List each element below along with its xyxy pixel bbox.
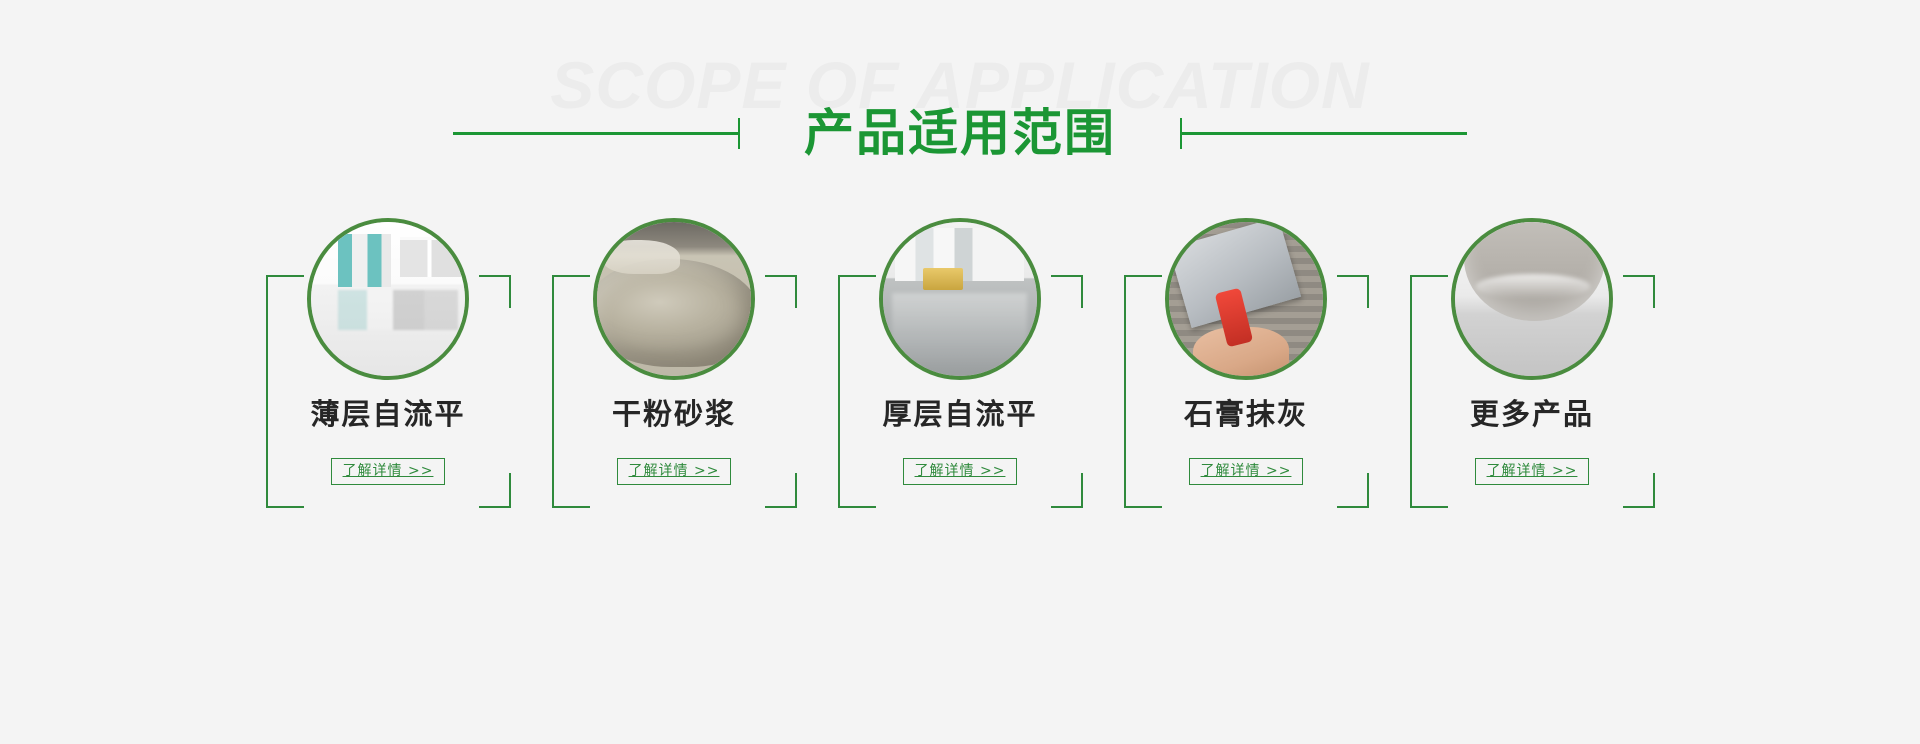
thin-layer-self-leveling-floor-photo[interactable] bbox=[307, 218, 469, 380]
card-photo bbox=[1169, 222, 1323, 376]
card-frame-gap-bottom bbox=[590, 502, 765, 510]
card-label: 石膏抹灰 bbox=[1124, 400, 1369, 429]
thick-layer-self-leveling-floor-photo[interactable] bbox=[879, 218, 1041, 380]
section-header: SCOPE OF APPLICATION 产品适用范围 bbox=[0, 0, 1920, 200]
gypsum-plastering-trowel-photo[interactable] bbox=[1165, 218, 1327, 380]
title-rule-right bbox=[1182, 132, 1467, 135]
card-photo bbox=[597, 222, 751, 376]
card-button-wrap: 了解详情 >> bbox=[1410, 458, 1655, 485]
product-card: 干粉砂浆了解详情 >> bbox=[552, 218, 797, 508]
card-label: 干粉砂浆 bbox=[552, 400, 797, 429]
card-photo bbox=[311, 222, 465, 376]
card-frame-gap-bottom bbox=[1448, 502, 1623, 510]
card-label: 更多产品 bbox=[1410, 400, 1655, 429]
product-card-list: 薄层自流平了解详情 >>干粉砂浆了解详情 >>厚层自流平了解详情 >>石膏抹灰了… bbox=[0, 218, 1920, 508]
title-rule-left bbox=[453, 132, 738, 135]
card-button-wrap: 了解详情 >> bbox=[552, 458, 797, 485]
card-frame-gap-bottom bbox=[876, 502, 1051, 510]
product-card: 石膏抹灰了解详情 >> bbox=[1124, 218, 1369, 508]
card-frame-gap-bottom bbox=[304, 502, 479, 510]
title-row: 产品适用范围 bbox=[0, 108, 1920, 158]
card-label: 厚层自流平 bbox=[838, 400, 1083, 429]
learn-more-button[interactable]: 了解详情 >> bbox=[617, 458, 732, 485]
photo-reflection bbox=[338, 290, 458, 330]
dry-powder-mortar-photo[interactable] bbox=[593, 218, 755, 380]
card-button-wrap: 了解详情 >> bbox=[838, 458, 1083, 485]
card-button-wrap: 了解详情 >> bbox=[1124, 458, 1369, 485]
page-title: 产品适用范围 bbox=[740, 108, 1180, 158]
card-frame-gap-right bbox=[790, 308, 802, 473]
learn-more-button[interactable]: 了解详情 >> bbox=[1475, 458, 1590, 485]
card-photo bbox=[883, 222, 1037, 376]
card-label: 薄层自流平 bbox=[266, 400, 511, 429]
product-card: 薄层自流平了解详情 >> bbox=[266, 218, 511, 508]
card-frame-gap-right bbox=[1648, 308, 1660, 473]
card-frame-gap-right bbox=[1362, 308, 1374, 473]
more-products-photo[interactable] bbox=[1451, 218, 1613, 380]
card-frame-gap-bottom bbox=[1162, 502, 1337, 510]
card-photo bbox=[1455, 222, 1609, 376]
card-frame-gap-right bbox=[1076, 308, 1088, 473]
photo-reflection bbox=[892, 293, 1028, 370]
learn-more-button[interactable]: 了解详情 >> bbox=[1189, 458, 1304, 485]
learn-more-button[interactable]: 了解详情 >> bbox=[331, 458, 446, 485]
card-button-wrap: 了解详情 >> bbox=[266, 458, 511, 485]
photo-reflection bbox=[1193, 327, 1288, 380]
learn-more-button[interactable]: 了解详情 >> bbox=[903, 458, 1018, 485]
product-card: 厚层自流平了解详情 >> bbox=[838, 218, 1083, 508]
card-frame-gap-right bbox=[504, 308, 516, 473]
product-card: 更多产品了解详情 >> bbox=[1410, 218, 1655, 508]
